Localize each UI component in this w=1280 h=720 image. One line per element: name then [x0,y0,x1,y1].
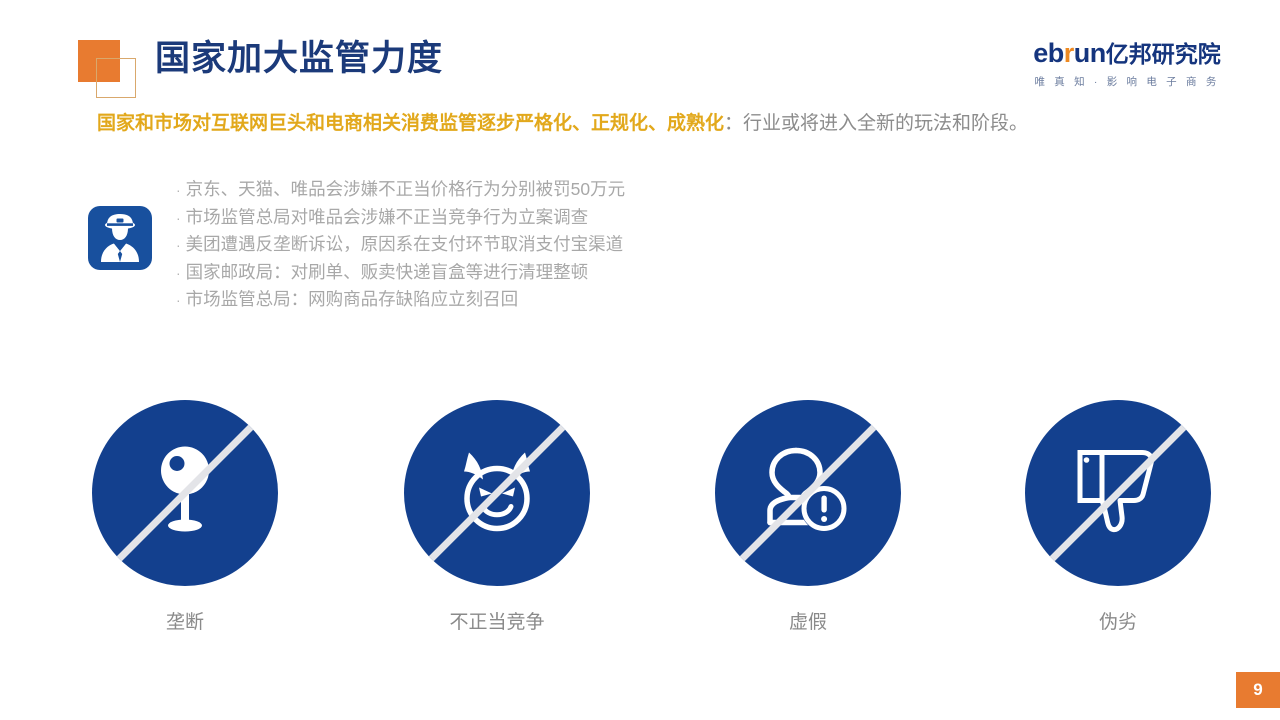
page-title: 国家加大监管力度 [155,34,443,84]
subtitle-highlight: 国家和市场对互联网巨头和电商相关消费监管逐步严格化、正规化、成熟化 [97,113,724,134]
bullet-marker: · [176,265,181,281]
logo-text-accent: r [1064,38,1074,68]
logo-wordmark: ebrun亿邦研究院 [1022,38,1232,69]
category-item-monopoly: 垄断 [65,400,305,636]
list-item-text: 京东、天猫、唯品会涉嫌不正当价格行为分别被罚50万元 [186,179,625,199]
subtitle-rest: ：行业或将进入全新的玩法和阶段。 [724,113,1028,134]
slide-header: 国家加大监管力度 ebrun亿邦研究院 唯 真 知 · 影 响 电 子 商 务 [0,0,1280,110]
bullet-list: ·京东、天猫、唯品会涉嫌不正当价格行为分别被罚50万元 ·市场监管总局对唯品会涉… [176,176,625,314]
logo-tagline: 唯 真 知 · 影 响 电 子 商 务 [1022,74,1232,89]
list-item: ·美团遭遇反垄断诉讼，原因系在支付环节取消支付宝渠道 [176,231,625,259]
list-item: ·市场监管总局：网购商品存缺陷应立刻召回 [176,286,625,314]
logo-text-chinese: 亿邦研究院 [1106,41,1221,67]
prohibition-slash [1043,418,1194,569]
category-label: 虚假 [688,610,928,636]
category-badge [1025,400,1211,586]
category-label: 伪劣 [998,610,1238,636]
category-icon-row: 垄断 不正当竞争 [0,400,1280,650]
bullet-marker: · [176,210,181,226]
list-item: ·京东、天猫、唯品会涉嫌不正当价格行为分别被罚50万元 [176,176,625,204]
category-item-counterfeit: 伪劣 [998,400,1238,636]
list-item-text: 市场监管总局对唯品会涉嫌不正当竞争行为立案调查 [186,207,589,227]
subtitle-line: 国家和市场对互联网巨头和电商相关消费监管逐步严格化、正规化、成熟化：行业或将进入… [97,110,1028,138]
decor-square-outline [96,58,136,98]
category-badge [92,400,278,586]
police-officer-icon [88,206,152,270]
category-item-fake: 虚假 [688,400,928,636]
list-item-text: 国家邮政局：对刷单、贩卖快递盲盒等进行清理整顿 [186,262,589,282]
list-item: ·市场监管总局对唯品会涉嫌不正当竞争行为立案调查 [176,204,625,232]
category-item-unfair-competition: 不正当竞争 [377,400,617,636]
category-badge [404,400,590,586]
bullet-marker: · [176,237,181,253]
list-item-text: 市场监管总局：网购商品存缺陷应立刻召回 [186,289,519,309]
list-item: ·国家邮政局：对刷单、贩卖快递盲盒等进行清理整顿 [176,259,625,287]
prohibition-slash [110,418,261,569]
bullet-marker: · [176,182,181,198]
bullet-marker: · [176,292,181,308]
page-number-badge: 9 [1236,672,1280,708]
list-item-text: 美团遭遇反垄断诉讼，原因系在支付环节取消支付宝渠道 [186,234,624,254]
logo-text-part1: eb [1033,38,1064,68]
category-label: 不正当竞争 [377,610,617,636]
category-badge [715,400,901,586]
category-label: 垄断 [65,610,305,636]
logo-text-part2: un [1074,38,1106,68]
brand-logo: ebrun亿邦研究院 唯 真 知 · 影 响 电 子 商 务 [1022,38,1232,89]
